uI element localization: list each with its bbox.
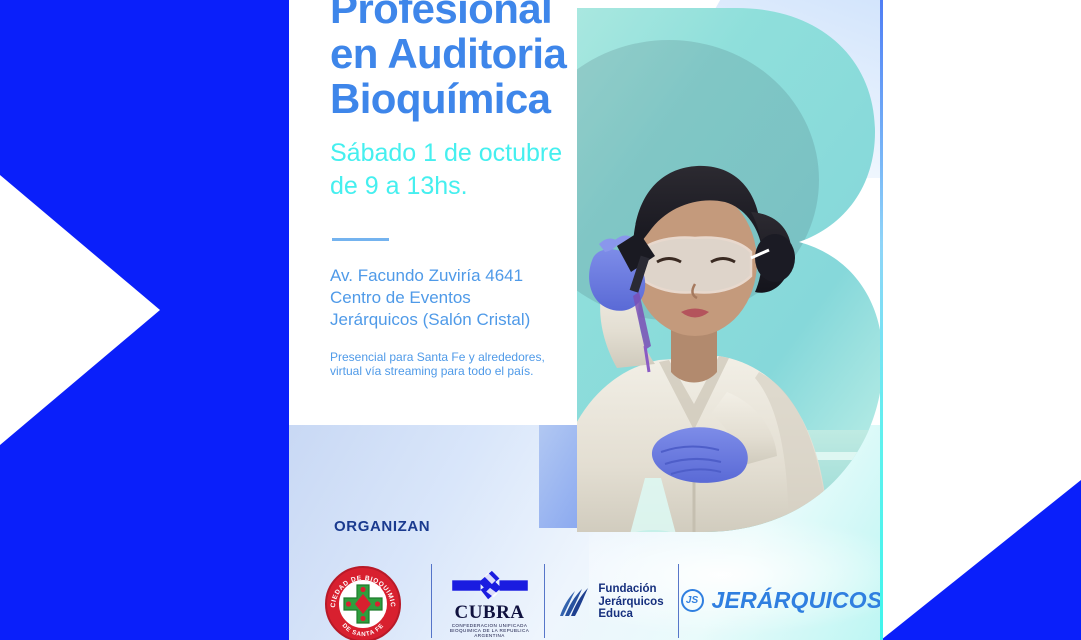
sociedad-bioquimicos-seal-icon: SOCIEDAD DE BIOQUIMICOS DE SANTA FE xyxy=(325,566,401,640)
event-date: Sábado 1 de octubre de 9 a 13hs. xyxy=(330,137,630,203)
attendance-note-line-1: Presencial para Santa Fe y alrededores, xyxy=(330,350,630,364)
fundacion-line-3: Educa xyxy=(598,608,663,620)
poster-right-edge xyxy=(880,0,883,640)
chevron-arrow-icon xyxy=(0,175,160,445)
logo-divider xyxy=(431,564,432,638)
attendance-note: Presencial para Santa Fe y alrededores, … xyxy=(330,350,630,378)
title-line-1: Profesional xyxy=(330,0,660,31)
fundacion-wing-icon xyxy=(558,585,592,619)
organizers-label: ORGANIZAN xyxy=(334,518,430,535)
divider-rule xyxy=(332,238,389,241)
cubra-subtitle: CONFEDERACION UNIFICADA BIOQUIMICA DE LA… xyxy=(448,623,532,638)
page-title: Profesional en Auditoria Bioquímica xyxy=(330,0,660,121)
logo-sociedad-bioquimicos: SOCIEDAD DE BIOQUIMICOS DE SANTA FE xyxy=(289,560,437,640)
fundacion-line-2: Jerárquicos xyxy=(598,596,663,608)
event-time-line: de 9 a 13hs. xyxy=(330,170,630,203)
cubra-wordmark: CUBRA xyxy=(448,603,532,623)
cubra-handshake-icon xyxy=(448,569,532,603)
poster-screenshot: Profesional en Auditoria Bioquímica Sába… xyxy=(0,0,1081,640)
venue-name: Centro de Eventos xyxy=(330,287,650,309)
event-poster: Profesional en Auditoria Bioquímica Sába… xyxy=(289,0,883,640)
event-date-line-1: Sábado 1 de octubre xyxy=(330,137,630,170)
venue-street: Av. Facundo Zuviría 4641 xyxy=(330,265,650,287)
title-line-3: Bioquímica xyxy=(330,76,660,121)
organizer-logos: SOCIEDAD DE BIOQUIMICOS DE SANTA FE xyxy=(289,560,883,640)
js-badge-icon: JS xyxy=(681,589,704,612)
left-blue-panel xyxy=(0,0,290,640)
logo-fundacion-jerarquicos-educa: Fundación Jerárquicos Educa xyxy=(542,560,680,640)
attendance-note-line-2: virtual vía streaming para todo el país. xyxy=(330,364,630,378)
logo-cubra: CUBRA CONFEDERACION UNIFICADA BIOQUIMICA… xyxy=(437,560,542,640)
logo-divider xyxy=(544,564,545,638)
logo-jerarquicos: JS JERÁRQUICOS xyxy=(680,560,883,640)
corner-triangle-decoration xyxy=(881,480,1081,640)
logo-divider xyxy=(678,564,679,638)
title-line-2: en Auditoria xyxy=(330,31,660,76)
event-venue: Av. Facundo Zuviría 4641 Centro de Event… xyxy=(330,265,650,331)
jerarquicos-wordmark: JERÁRQUICOS xyxy=(712,587,883,614)
venue-hall: Jerárquicos (Salón Cristal) xyxy=(330,309,650,331)
fundacion-line-1: Fundación xyxy=(598,583,663,595)
